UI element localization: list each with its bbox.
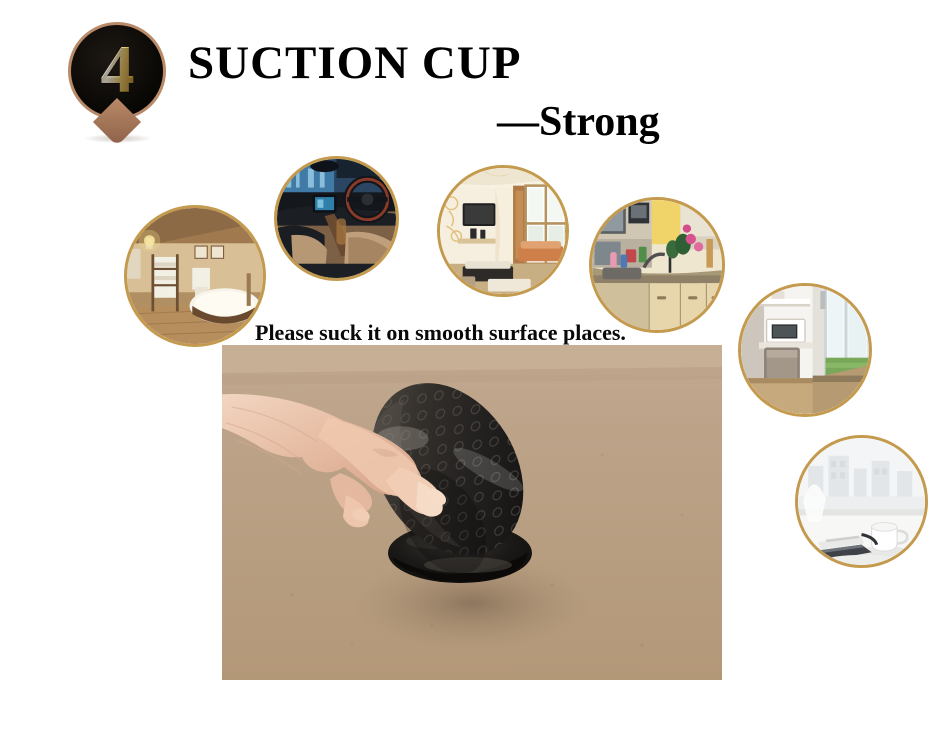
scene-image-bathroom xyxy=(127,208,263,344)
badge-number-label: 4 xyxy=(68,22,166,120)
scene-circle-car-interior xyxy=(274,156,399,281)
scene-circle-living-room xyxy=(437,165,569,297)
page-subtitle: —Strong xyxy=(497,98,660,146)
page-title: SUCTION CUP xyxy=(188,36,522,90)
scene-image-living-room xyxy=(440,168,566,294)
instruction-caption: Please suck it on smooth surface places. xyxy=(255,320,626,346)
scene-image-office-desk xyxy=(798,438,925,565)
scene-circle-kitchen xyxy=(589,197,725,333)
scene-circle-balcony-laundry xyxy=(738,283,872,417)
step-number-badge: 4 xyxy=(68,22,180,144)
product-demo-photo xyxy=(222,345,722,680)
promo-page: 4 SUCTION CUP —Strong xyxy=(0,0,950,737)
scene-circle-bathroom xyxy=(124,205,266,347)
scene-circle-office-desk xyxy=(795,435,928,568)
scene-image-car-interior xyxy=(277,159,396,278)
scene-image-kitchen xyxy=(592,200,722,330)
scene-image-balcony-laundry xyxy=(741,286,869,414)
